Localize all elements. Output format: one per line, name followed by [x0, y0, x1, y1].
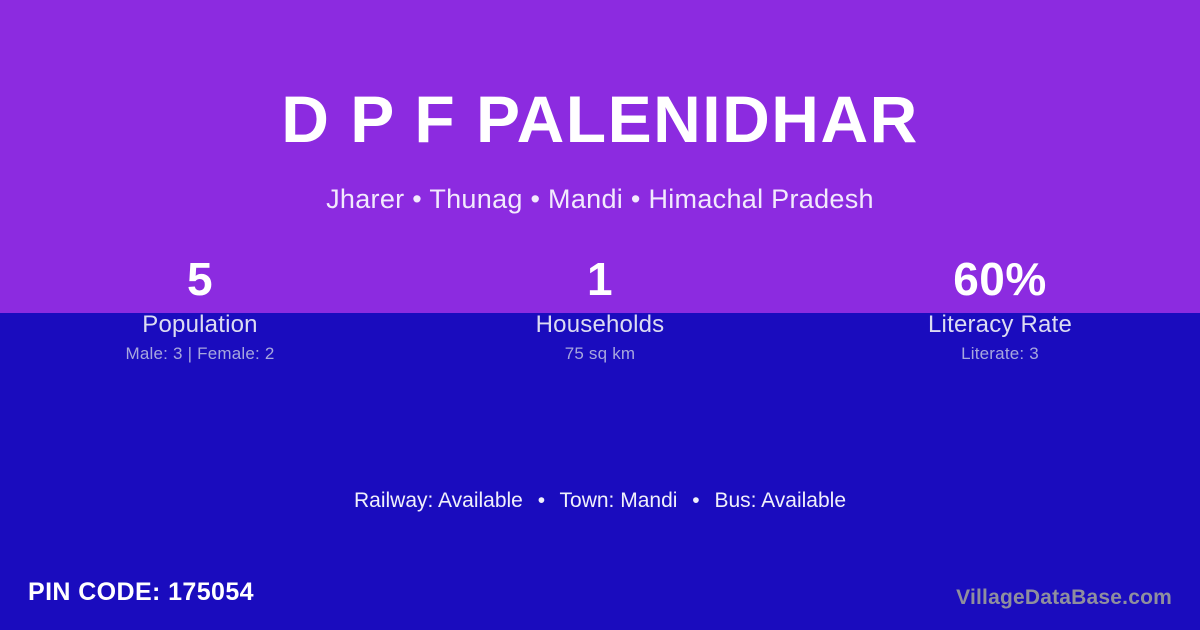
amenity-railway: Railway: Available: [354, 489, 523, 512]
breadcrumb: Jharer • Thunag • Mandi • Himachal Prade…: [0, 183, 1200, 215]
page-title: D P F PALENIDHAR: [0, 86, 1200, 152]
amenities-row: Railway: Available • Town: Mandi • Bus: …: [0, 487, 1200, 515]
pin-code: PIN CODE: 175054: [28, 576, 254, 608]
amenity-separator-icon: •: [683, 487, 708, 515]
stat-sublabel: Literate: 3: [800, 340, 1200, 368]
amenity-town: Town: Mandi: [560, 489, 678, 512]
stat-label: Households: [400, 310, 800, 340]
stat-sublabel: 75 sq km: [400, 340, 800, 368]
amenity-separator-icon: •: [529, 487, 554, 515]
amenity-bus: Bus: Available: [714, 489, 846, 512]
village-info-card: D P F PALENIDHAR Jharer • Thunag • Mandi…: [0, 0, 1200, 630]
site-brand: VillageDataBase.com: [956, 584, 1172, 612]
stat-households: 1 Households 75 sq km: [400, 248, 800, 368]
stat-label: Literacy Rate: [800, 310, 1200, 340]
stat-literacy-rate: 60% Literacy Rate Literate: 3: [800, 248, 1200, 368]
stat-value: 60%: [800, 248, 1200, 310]
stat-label: Population: [0, 310, 400, 340]
stat-population: 5 Population Male: 3 | Female: 2: [0, 248, 400, 368]
stat-value: 1: [400, 248, 800, 310]
stat-value: 5: [0, 248, 400, 310]
stat-sublabel: Male: 3 | Female: 2: [0, 340, 400, 368]
stats-row: 5 Population Male: 3 | Female: 2 1 House…: [0, 248, 1200, 368]
